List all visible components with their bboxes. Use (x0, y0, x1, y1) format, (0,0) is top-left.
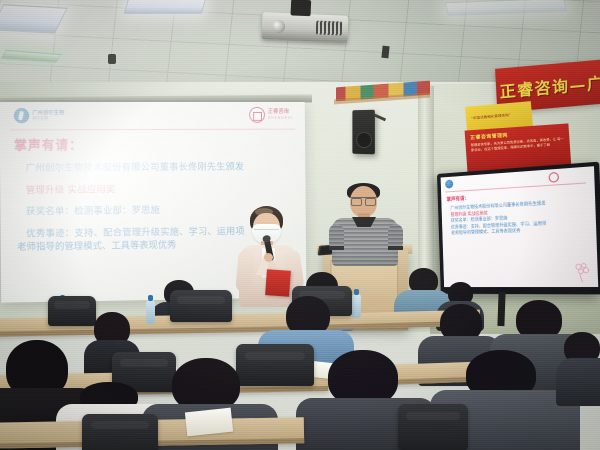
slide-line-award: 管理升级 实战应用奖 (26, 183, 292, 198)
paper-sheet (185, 408, 233, 437)
office-chair (398, 404, 468, 450)
glasses-icon (351, 197, 376, 203)
creer-logo: 广州创尔生物 创尔生物 (14, 108, 65, 123)
ceiling-projector (261, 12, 348, 43)
banner-text: 正睿咨询—广 (499, 69, 600, 102)
tv-creer-logo-icon (445, 179, 453, 188)
presenter-cuff-left (329, 246, 344, 250)
slide-divider (10, 129, 295, 131)
projector-vent (316, 20, 343, 35)
slide-header: 广州创尔生物 创尔生物 正睿咨询 ZHENGRUI (0, 102, 305, 130)
creer-logo-text: 广州创尔生物 创尔生物 (32, 110, 64, 121)
office-chair (82, 414, 158, 450)
zhengrui-logo-icon (249, 107, 265, 123)
ceiling-sensor (108, 54, 116, 64)
wall-tv-monitor: 掌声有请： 广州创尔生物技术股份有限公司董事长佟刚先生颁发 管理升级 实战应用奖… (437, 162, 600, 295)
presenter-cuff-right (388, 246, 403, 250)
tv-flower-decoration-icon (571, 261, 593, 284)
wall-speaker (352, 110, 375, 155)
office-chair (170, 290, 232, 322)
water-bottle (146, 300, 155, 324)
creer-logo-icon (14, 108, 29, 123)
male-presenter (330, 186, 402, 261)
tv-slide-body: 掌声有请： 广州创尔生物技术股份有限公司董事长佟刚先生颁发 管理升级 实战应用奖… (446, 188, 589, 239)
zhengrui-logo: 正睿咨询 ZHENGRUI (249, 107, 293, 123)
slide-title: 掌声有请： (14, 134, 292, 154)
audience-person (556, 332, 600, 402)
host-hand (264, 253, 273, 262)
yellow-poster-text: “中国式精细化管理咨询” (471, 112, 511, 120)
ceiling-mount-bracket (381, 46, 389, 59)
conference-room-photo: 正睿咨询—广 “中国式精细化管理咨询” 正睿咨询管理网 管理咨询专家，先为贵公司… (0, 0, 600, 450)
red-certificate-folder (265, 269, 291, 297)
slide-line-company: 广州创尔生物技术股份有限公司董事长佟刚先生颁发 (26, 161, 292, 175)
tv-zhengrui-logo-icon (549, 172, 559, 183)
tv-screen-content: 掌声有请： 广州创尔生物技术股份有限公司董事长佟刚先生颁发 管理升级 实战应用奖… (441, 166, 599, 287)
person-torso (556, 358, 600, 406)
zhengrui-logo-text: 正睿咨询 ZHENGRUI (268, 109, 293, 120)
ceiling-light-fixture (124, 0, 207, 14)
